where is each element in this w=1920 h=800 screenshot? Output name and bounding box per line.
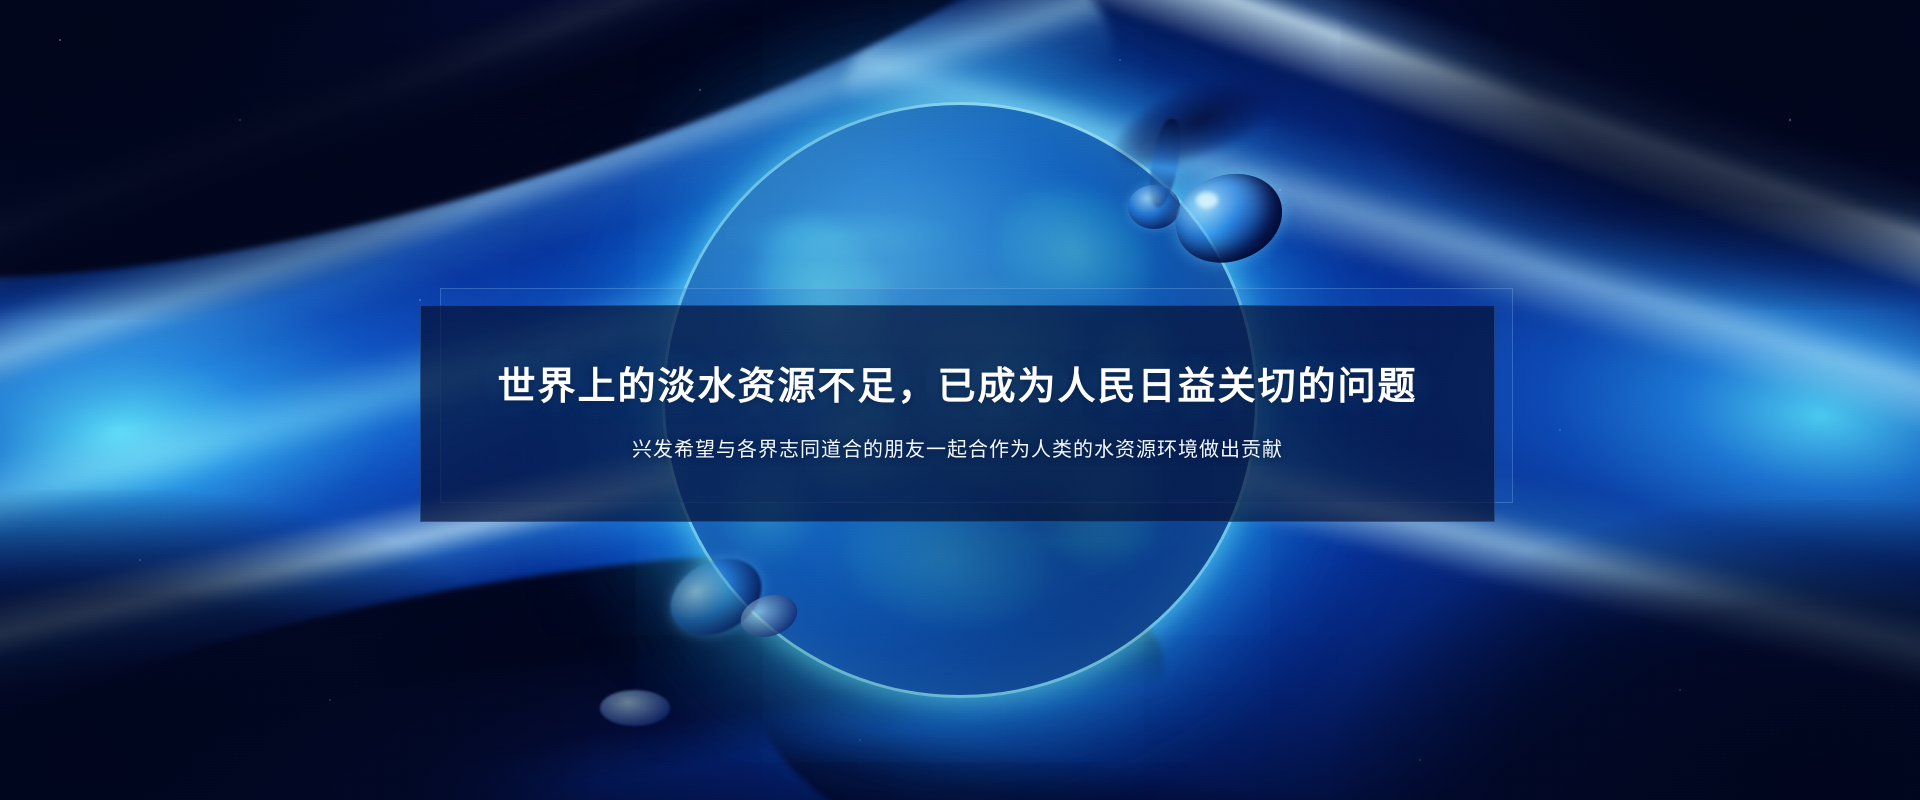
banner-inner-panel: 世界上的淡水资源不足，已成为人民日益关切的问题 兴发希望与各界志同道合的朋友一起… [420, 305, 1495, 522]
banner: 世界上的淡水资源不足，已成为人民日益关切的问题 兴发希望与各界志同道合的朋友一起… [420, 288, 1515, 524]
banner-subtitle: 兴发希望与各界志同道合的朋友一起合作为人类的水资源环境做出贡献 [632, 437, 1283, 463]
banner-title: 世界上的淡水资源不足，已成为人民日益关切的问题 [497, 364, 1417, 412]
hero-banner-stage: 世界上的淡水资源不足，已成为人民日益关切的问题 兴发希望与各界志同道合的朋友一起… [0, 0, 1920, 800]
